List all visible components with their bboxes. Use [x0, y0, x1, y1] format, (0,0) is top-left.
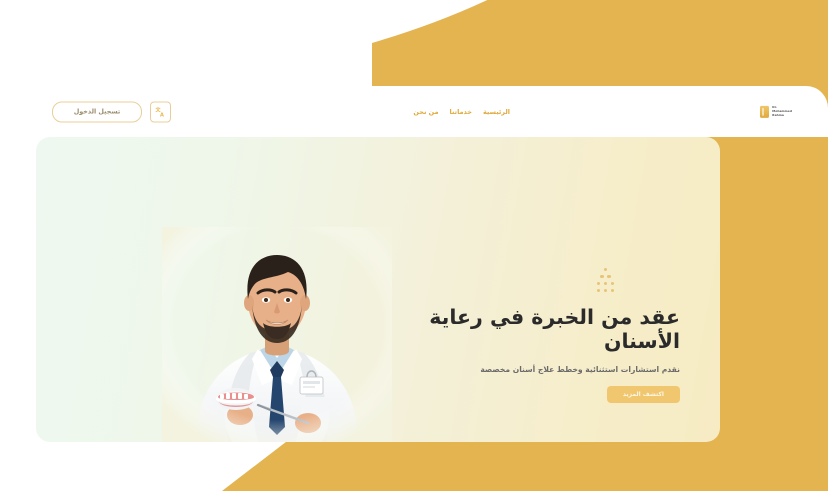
site-header: Dr. Mohammed Rahma الرئيسية خدماتنا من ن…	[0, 86, 828, 137]
dot	[597, 282, 600, 285]
language-translate-icon: 文 A	[155, 106, 166, 117]
dot-grid-decoration	[597, 268, 614, 292]
header-inner: Dr. Mohammed Rahma الرئيسية خدماتنا من ن…	[0, 86, 828, 137]
dot	[604, 268, 607, 271]
dot	[600, 275, 603, 278]
dentist-illustration	[162, 227, 392, 442]
page-root: Dr. Mohammed Rahma الرئيسية خدماتنا من ن…	[0, 0, 828, 491]
logo-mark-icon	[760, 106, 769, 118]
main-navigation: الرئيسية خدماتنا من نحن	[413, 108, 510, 116]
hero-cta-button[interactable]: اكتشف المزيد	[607, 386, 680, 403]
dentist-portrait-image	[162, 227, 392, 442]
nav-item-about[interactable]: من نحن	[413, 108, 438, 116]
hero-title: عقد من الخبرة في رعاية الأسنان	[400, 305, 680, 353]
dot-row-3	[597, 282, 614, 285]
dot-row-4	[597, 289, 614, 292]
hero-subtitle: نقدم استشارات استثنائية وخطط علاج أسنان …	[400, 364, 680, 375]
header-actions: تسجيل الدخول 文 A	[52, 101, 171, 122]
dot	[597, 289, 600, 292]
logo-line-3: Rahma	[772, 114, 792, 117]
site-logo[interactable]: Dr. Mohammed Rahma	[760, 105, 792, 117]
nav-item-services[interactable]: خدماتنا	[450, 108, 472, 116]
dot-row-1	[604, 268, 607, 271]
svg-text:A: A	[160, 112, 164, 117]
dot	[611, 282, 614, 285]
hero-text-block: عقد من الخبرة في رعاية الأسنان نقدم استش…	[400, 305, 680, 403]
dot	[607, 275, 610, 278]
gold-top-shape	[372, 0, 828, 86]
hero-section: عقد من الخبرة في رعاية الأسنان نقدم استش…	[36, 137, 720, 442]
language-switch-button[interactable]: 文 A	[150, 101, 171, 122]
dot	[611, 289, 614, 292]
logo-text: Dr. Mohammed Rahma	[772, 105, 792, 117]
login-button[interactable]: تسجيل الدخول	[52, 101, 142, 122]
gold-top-curve-carve	[372, 0, 702, 86]
nav-item-home[interactable]: الرئيسية	[483, 108, 510, 116]
dot	[604, 282, 607, 285]
hero-cta-wrapper: اكتشف المزيد	[400, 386, 680, 403]
dot	[604, 289, 607, 292]
dot-row-2	[600, 275, 610, 278]
